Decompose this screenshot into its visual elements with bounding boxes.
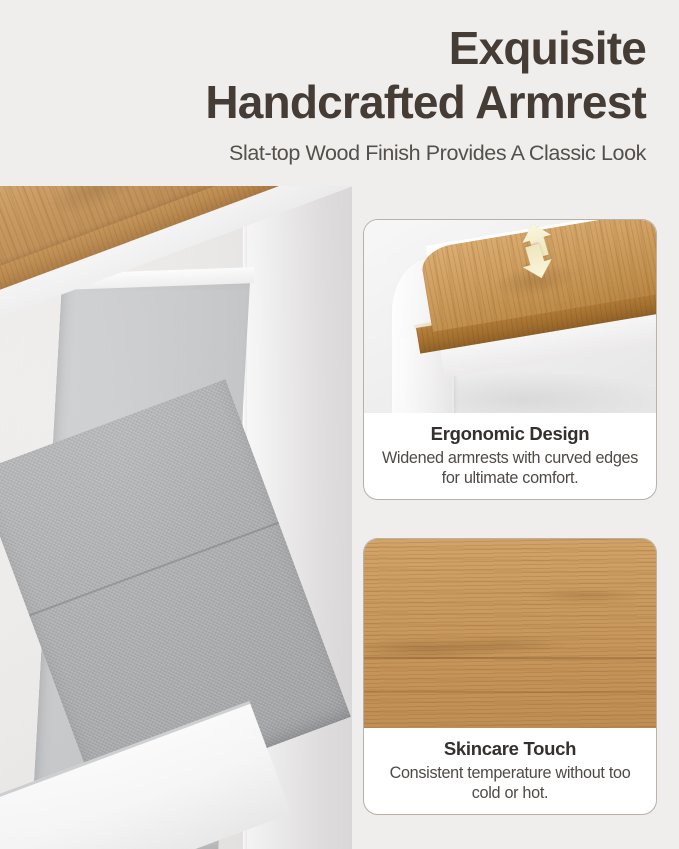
cushion-seam [29,522,279,617]
wood-seam-lower [364,691,656,693]
headline-line-2: Handcrafted Armrest [0,76,646,130]
card-skincare-title: Skincare Touch [376,738,644,760]
card-skincare-media [364,539,656,728]
card-ergonomic-media [364,220,656,413]
wood-seam-upper [364,657,656,659]
card-skincare-caption: Skincare Touch Consistent temperature wi… [364,728,656,803]
card-ergonomic-description: Widened armrests with curved edges for u… [376,449,644,488]
hero-product-photo [0,186,352,849]
card-ergonomic-title: Ergonomic Design [376,423,644,445]
feature-card-skincare: Skincare Touch Consistent temperature wi… [363,538,657,815]
headline-line-1: Exquisite [0,22,646,76]
wood-grain-swatch [364,539,656,728]
card-ergonomic-caption: Ergonomic Design Widened armrests with c… [364,413,656,488]
subtitle: Slat-top Wood Finish Provides A Classic … [0,141,646,166]
card-skincare-description: Consistent temperature without too cold … [376,764,644,803]
feature-card-ergonomic: Ergonomic Design Widened armrests with c… [363,219,657,500]
header: Exquisite Handcrafted Armrest Slat-top W… [0,0,679,166]
marketing-graphic: Exquisite Handcrafted Armrest Slat-top W… [0,0,679,849]
